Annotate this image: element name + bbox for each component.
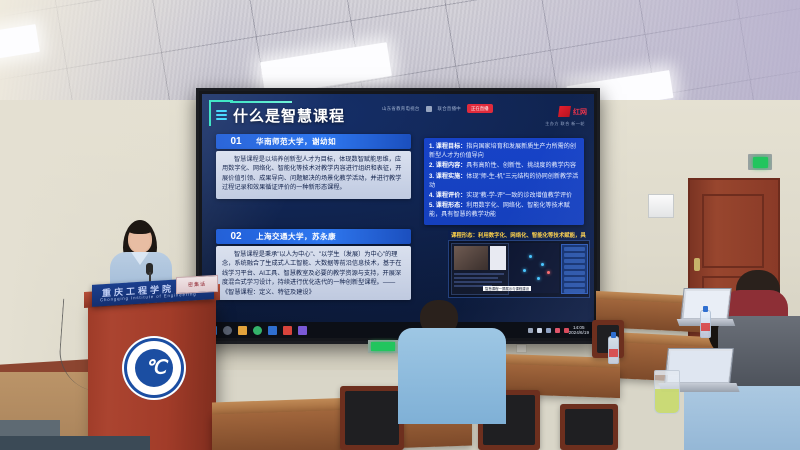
live-badge: 正在直播 <box>467 104 493 113</box>
cup-contents <box>655 389 679 413</box>
broadcast-icon <box>426 106 432 112</box>
speaker-nameplate: 密集话 <box>176 275 218 294</box>
app-icon[interactable] <box>298 326 307 335</box>
logo-monogram: ℃ <box>145 357 163 380</box>
brand-glyph-icon <box>558 106 571 117</box>
slide-title: 什么是智慧课程 <box>233 105 345 126</box>
embedded-row <box>454 281 502 283</box>
bottle-cap <box>703 306 708 312</box>
key-points-list: 1. 课程目标：指向国家培育和发展新质生产力所需的创新型人才为价值导向 2. 课… <box>429 142 579 220</box>
exit-sign-icon <box>368 340 398 353</box>
graph-node <box>541 263 544 266</box>
section-number: 01 <box>216 136 256 147</box>
door-handle[interactable] <box>694 258 700 271</box>
list-item: 1. 课程目标：指向国家培育和发展新质生产力所需的创新型人才为价值导向 <box>429 142 579 160</box>
embedded-screenshot-caption: 智慧课程一屏展示与课程建设 <box>483 286 531 291</box>
section-body-text: 智慧课程是以培养创新型人才为目标，体现数智赋能思维，应用数字化、网络化、智能化等… <box>222 155 405 193</box>
list-item: 3. 课程实施：体现"师-生-机"三元结构的协同创新教学活动 <box>429 172 579 190</box>
section-title: 上海交通大学，苏永康 <box>256 231 336 242</box>
livestream-note: 联合直播中 <box>438 106 461 112</box>
brand-subtitle: 主办方 联合 新一轮 <box>545 121 585 127</box>
chair <box>340 386 404 450</box>
title-underline <box>230 101 292 103</box>
drink-cup[interactable] <box>654 370 680 414</box>
folder-icon[interactable] <box>238 326 247 335</box>
bottle-cap <box>611 332 616 338</box>
search-icon[interactable] <box>223 326 232 335</box>
embedded-sidebar-pane <box>561 244 588 294</box>
wall-access-point <box>648 194 674 218</box>
list-item: 4. 课程评价：实现"教-学-评"一致的诊改增值教学评价 <box>429 191 579 200</box>
institution-logo: ℃ <box>122 336 186 400</box>
section-body-text: 智慧课程是秉承"以人为中心"、"以学生（发展）为中心"的理念，系统融合了生成式人… <box>222 250 405 297</box>
embedded-video-thumb <box>454 246 488 270</box>
list-item: 5. 课程形态：利用数字化、网络化、智能化等技术赋能，具有智慧的教学功能 <box>429 201 579 219</box>
embedded-row <box>454 277 498 279</box>
wall-outlet <box>516 344 527 353</box>
graph-node <box>547 271 550 274</box>
water-bottle[interactable] <box>608 336 619 364</box>
display-screen: 什么是智慧课程 山东省教育电视台 联合直播中 正在直播 红网 主办方 联合 新一… <box>202 94 594 338</box>
livestream-bar: 山东省教育电视台 联合直播中 正在直播 <box>382 104 493 113</box>
water-bottle[interactable] <box>700 310 711 338</box>
taskbar[interactable]: 14:05 2024/6/19 <box>202 322 594 338</box>
section-title: 华南师范大学，谢幼如 <box>256 136 336 147</box>
chair-cushion <box>345 391 399 445</box>
brand-name: 红网 <box>573 107 587 117</box>
embedded-screenshot: 智慧课程一屏展示与课程建设 <box>448 240 590 298</box>
key-points-panel: 1. 课程目标：指向国家培育和发展新质生产力所需的创新型人才为价值导向 2. 课… <box>424 138 584 225</box>
graph-node <box>529 255 532 258</box>
clock-date: 2024/6/19 <box>569 330 589 335</box>
section-number: 02 <box>216 231 256 242</box>
section-header: 02 上海交通大学，苏永康 <box>216 229 411 244</box>
graph-node <box>537 277 540 280</box>
list-item: 2. 课程内容：具有高阶性、创新性、挑战度的教学内容 <box>429 161 579 170</box>
embedded-row <box>454 273 504 275</box>
system-tray[interactable] <box>528 328 569 333</box>
presentation-display[interactable]: 什么是智慧课程 山东省教育电视台 联合直播中 正在直播 红网 主办方 联合 新一… <box>196 88 600 344</box>
graph-node <box>523 269 526 272</box>
nameplate-text: 密集话 <box>177 280 217 289</box>
section-body: 智慧课程是以培养创新型人才为目标，体现数智赋能思维，应用数字化、网络化、智能化等… <box>216 151 411 199</box>
taskbar-clock[interactable]: 14:05 2024/6/19 <box>569 325 589 335</box>
chair <box>560 404 618 450</box>
foreground-table-edge <box>0 436 150 450</box>
bottle-label <box>609 349 618 357</box>
livestream-channel: 山东省教育电视台 <box>382 106 420 112</box>
door-panel-top <box>702 194 764 268</box>
tray-chevron-icon[interactable] <box>528 328 533 333</box>
menu-icon[interactable] <box>216 110 227 119</box>
exit-sign-icon <box>748 154 772 170</box>
person-torso <box>398 328 506 424</box>
tray-network-icon[interactable] <box>546 328 551 333</box>
brand-logo: 红网 <box>558 106 587 117</box>
bottle-label <box>701 323 710 331</box>
slide-content: 什么是智慧课程 山东省教育电视台 联合直播中 正在直播 红网 主办方 联合 新一… <box>202 94 594 322</box>
chair-cushion <box>565 409 613 445</box>
browser-icon[interactable] <box>253 326 262 335</box>
cup-lid <box>654 370 680 375</box>
lecture-hall-photo: 什么是智慧课程 山东省教育电视台 联合直播中 正在直播 红网 主办方 联合 新一… <box>0 0 800 450</box>
tray-battery-icon[interactable] <box>537 328 542 333</box>
mail-icon[interactable] <box>268 326 277 335</box>
embedded-document-thumb <box>490 246 506 270</box>
section-body: 智慧课程是秉承"以人为中心"、"以学生（发展）为中心"的理念，系统融合了生成式人… <box>216 246 411 300</box>
section-header: 01 华南师范大学，谢幼如 <box>216 134 411 149</box>
speaker-fringe <box>128 224 152 234</box>
tray-volume-icon[interactable] <box>555 328 560 333</box>
media-icon[interactable] <box>283 326 292 335</box>
